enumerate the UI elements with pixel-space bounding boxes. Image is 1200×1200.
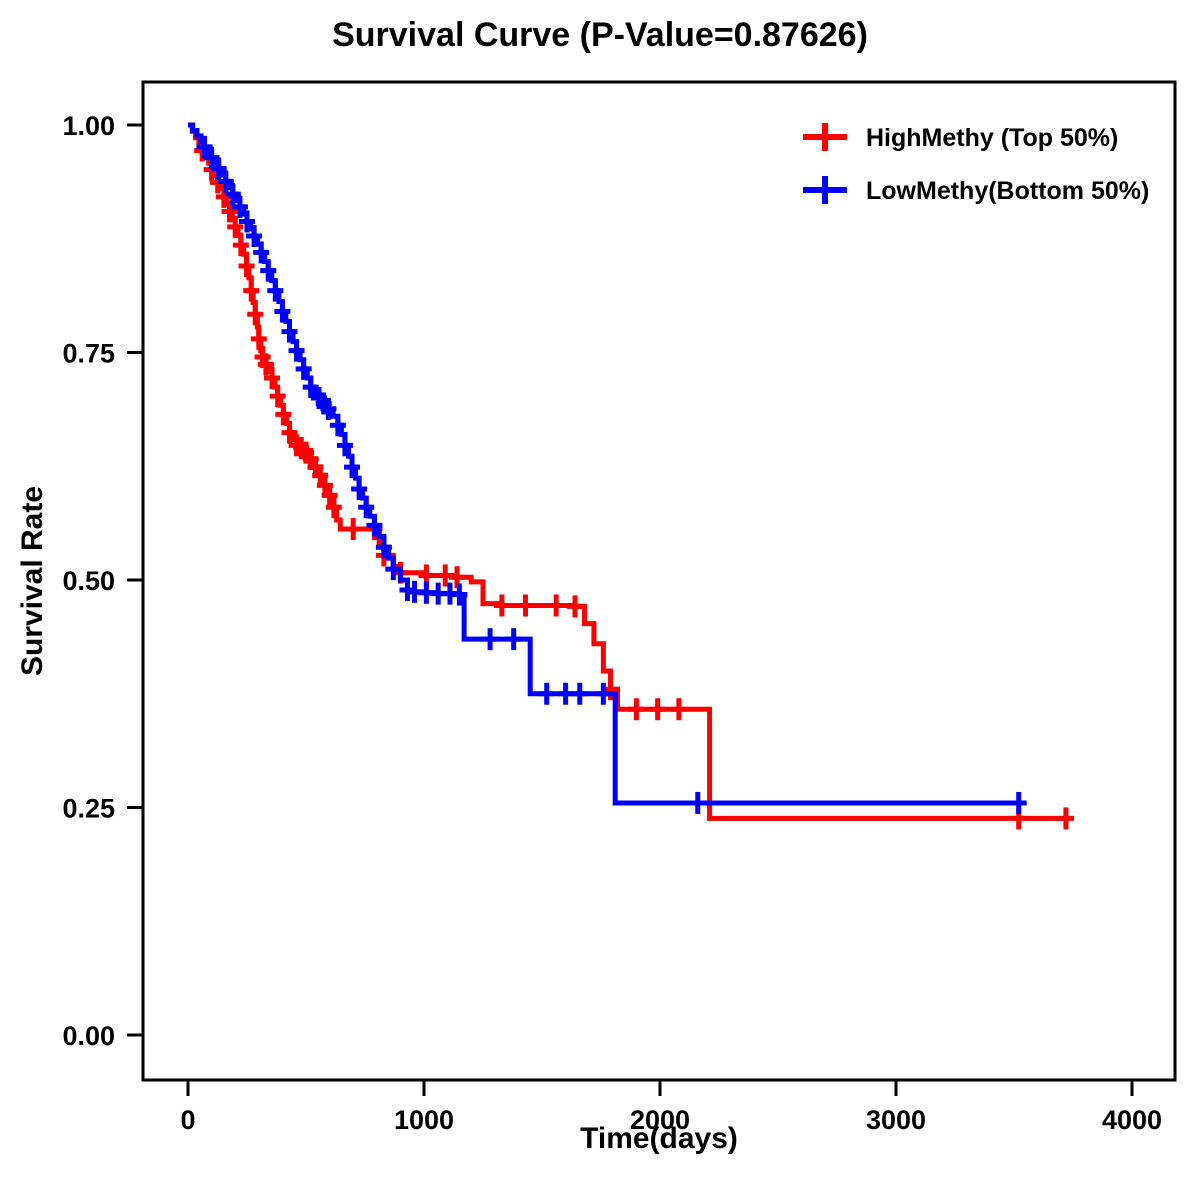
censor-mark-icon — [558, 683, 574, 705]
censor-mark-icon — [506, 628, 522, 650]
plot-frame — [143, 82, 1175, 1080]
y-tick-label: 0.25 — [62, 794, 115, 824]
censor-mark-icon — [572, 683, 588, 705]
censor-mark-icon — [482, 628, 498, 650]
x-tick-label: 4000 — [1102, 1105, 1162, 1135]
x-tick-label: 3000 — [866, 1105, 926, 1135]
censor-mark-icon — [567, 595, 583, 617]
censor-mark-icon — [539, 683, 555, 705]
y-tick-label: 0.00 — [62, 1021, 115, 1051]
censor-mark-icon — [690, 792, 706, 814]
series-high-methy — [188, 125, 1074, 829]
censor-mark-icon — [494, 594, 510, 616]
censor-mark-icon — [239, 255, 255, 277]
censor-mark-icon — [243, 280, 259, 302]
labels-layer: 010002000300040000.000.250.500.751.00Tim… — [16, 111, 1162, 1155]
censor-mark-icon — [628, 698, 644, 720]
censor-mark-icon — [345, 518, 361, 540]
y-tick-label: 0.75 — [62, 339, 115, 369]
legend-entry-high-methy[interactable]: HighMethy (Top 50%) — [803, 123, 1118, 152]
censor-mark-icon — [650, 698, 666, 720]
x-axis-label: Time(days) — [580, 1122, 738, 1155]
survival-plot: HighMethy (Top 50%)LowMethy(Bottom 50%) … — [0, 0, 1200, 1200]
survival-curve-figure: Survival Curve (P-Value=0.87626) HighMet… — [0, 0, 1200, 1200]
censor-mark-icon — [517, 594, 533, 616]
x-tick-label: 0 — [180, 1105, 195, 1135]
censor-mark-icon — [548, 594, 564, 616]
censor-mark-icon — [247, 303, 263, 325]
legend-label: LowMethy(Bottom 50%) — [866, 177, 1149, 205]
legend-plus-icon — [803, 123, 847, 151]
y-tick-label: 0.50 — [62, 566, 115, 596]
y-axis-label: Survival Rate — [16, 486, 49, 676]
legend-entry-low-methy[interactable]: LowMethy(Bottom 50%) — [803, 176, 1149, 205]
censor-mark-icon — [1011, 792, 1027, 814]
censor-mark-icon — [1058, 807, 1074, 829]
legend-layer: HighMethy (Top 50%)LowMethy(Bottom 50%) — [803, 123, 1149, 205]
axes-layer — [127, 82, 1175, 1096]
censor-mark-icon — [671, 698, 687, 720]
legend-label: HighMethy (Top 50%) — [866, 124, 1118, 152]
y-tick-label: 1.00 — [62, 111, 115, 141]
legend-plus-icon — [803, 176, 847, 204]
x-tick-label: 1000 — [394, 1105, 454, 1135]
curves-layer — [188, 125, 1074, 829]
